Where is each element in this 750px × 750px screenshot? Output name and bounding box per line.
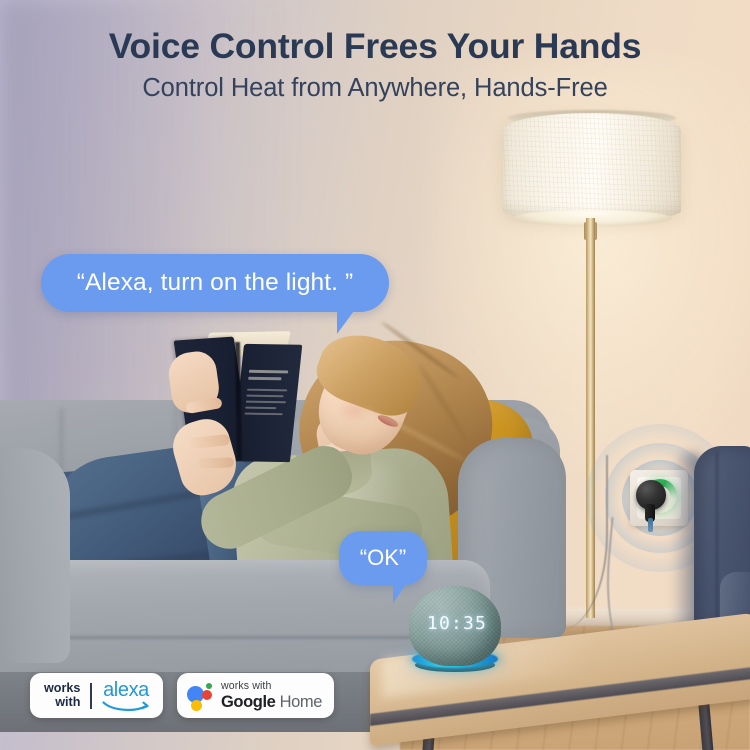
alexa-wordmark: alexa [102,680,150,712]
speech-bubble-alexa-command: “Alexa, turn on the light. ” [41,254,389,312]
google-badge-text: works with Google Home [221,681,322,710]
book-text-lines [243,370,294,432]
alexa-works-line1: works [44,682,80,695]
amazon-alexa-smile-icon [102,701,150,712]
google-product-text: Home [275,693,322,711]
finger [196,457,234,468]
sofa-seat-seam [0,636,470,639]
speech-bubble-alexa-text: “Alexa, turn on the light. ” [77,269,354,297]
alexa-works-line2: with [44,696,80,709]
compatibility-badges: works with alexa works with [30,673,334,718]
promo-image-canvas: 10:35 “Alexa, turn on the light. ” “OK” … [0,0,750,750]
alexa-works-with-label: works with [44,682,80,709]
google-assistant-dots-icon [187,682,213,710]
alexa-word-text: alexa [103,680,149,700]
google-dot-yellow [191,700,202,711]
speech-bubble-ok-text: “OK” [360,545,406,571]
google-brand-text: Google [221,693,275,711]
echo-dot-clock-display: 10:35 [425,612,489,634]
google-dot-red [202,690,212,700]
sofa-armrest-left [0,448,70,663]
badge-divider [90,683,92,709]
google-works-with-label: works with [221,681,322,692]
badge-works-with-alexa[interactable]: works with alexa [30,673,163,718]
lamp-shade-icon [503,113,681,221]
page-subtitle: Control Heat from Anywhere, Hands-Free [0,74,750,103]
google-dot-green [206,683,212,689]
speech-bubble-assistant-reply: “OK” [339,531,427,585]
page-title: Voice Control Frees Your Hands [0,26,750,67]
google-home-wordmark: Google Home [221,694,322,711]
badge-works-with-google-home[interactable]: works with Google Home [177,673,334,718]
